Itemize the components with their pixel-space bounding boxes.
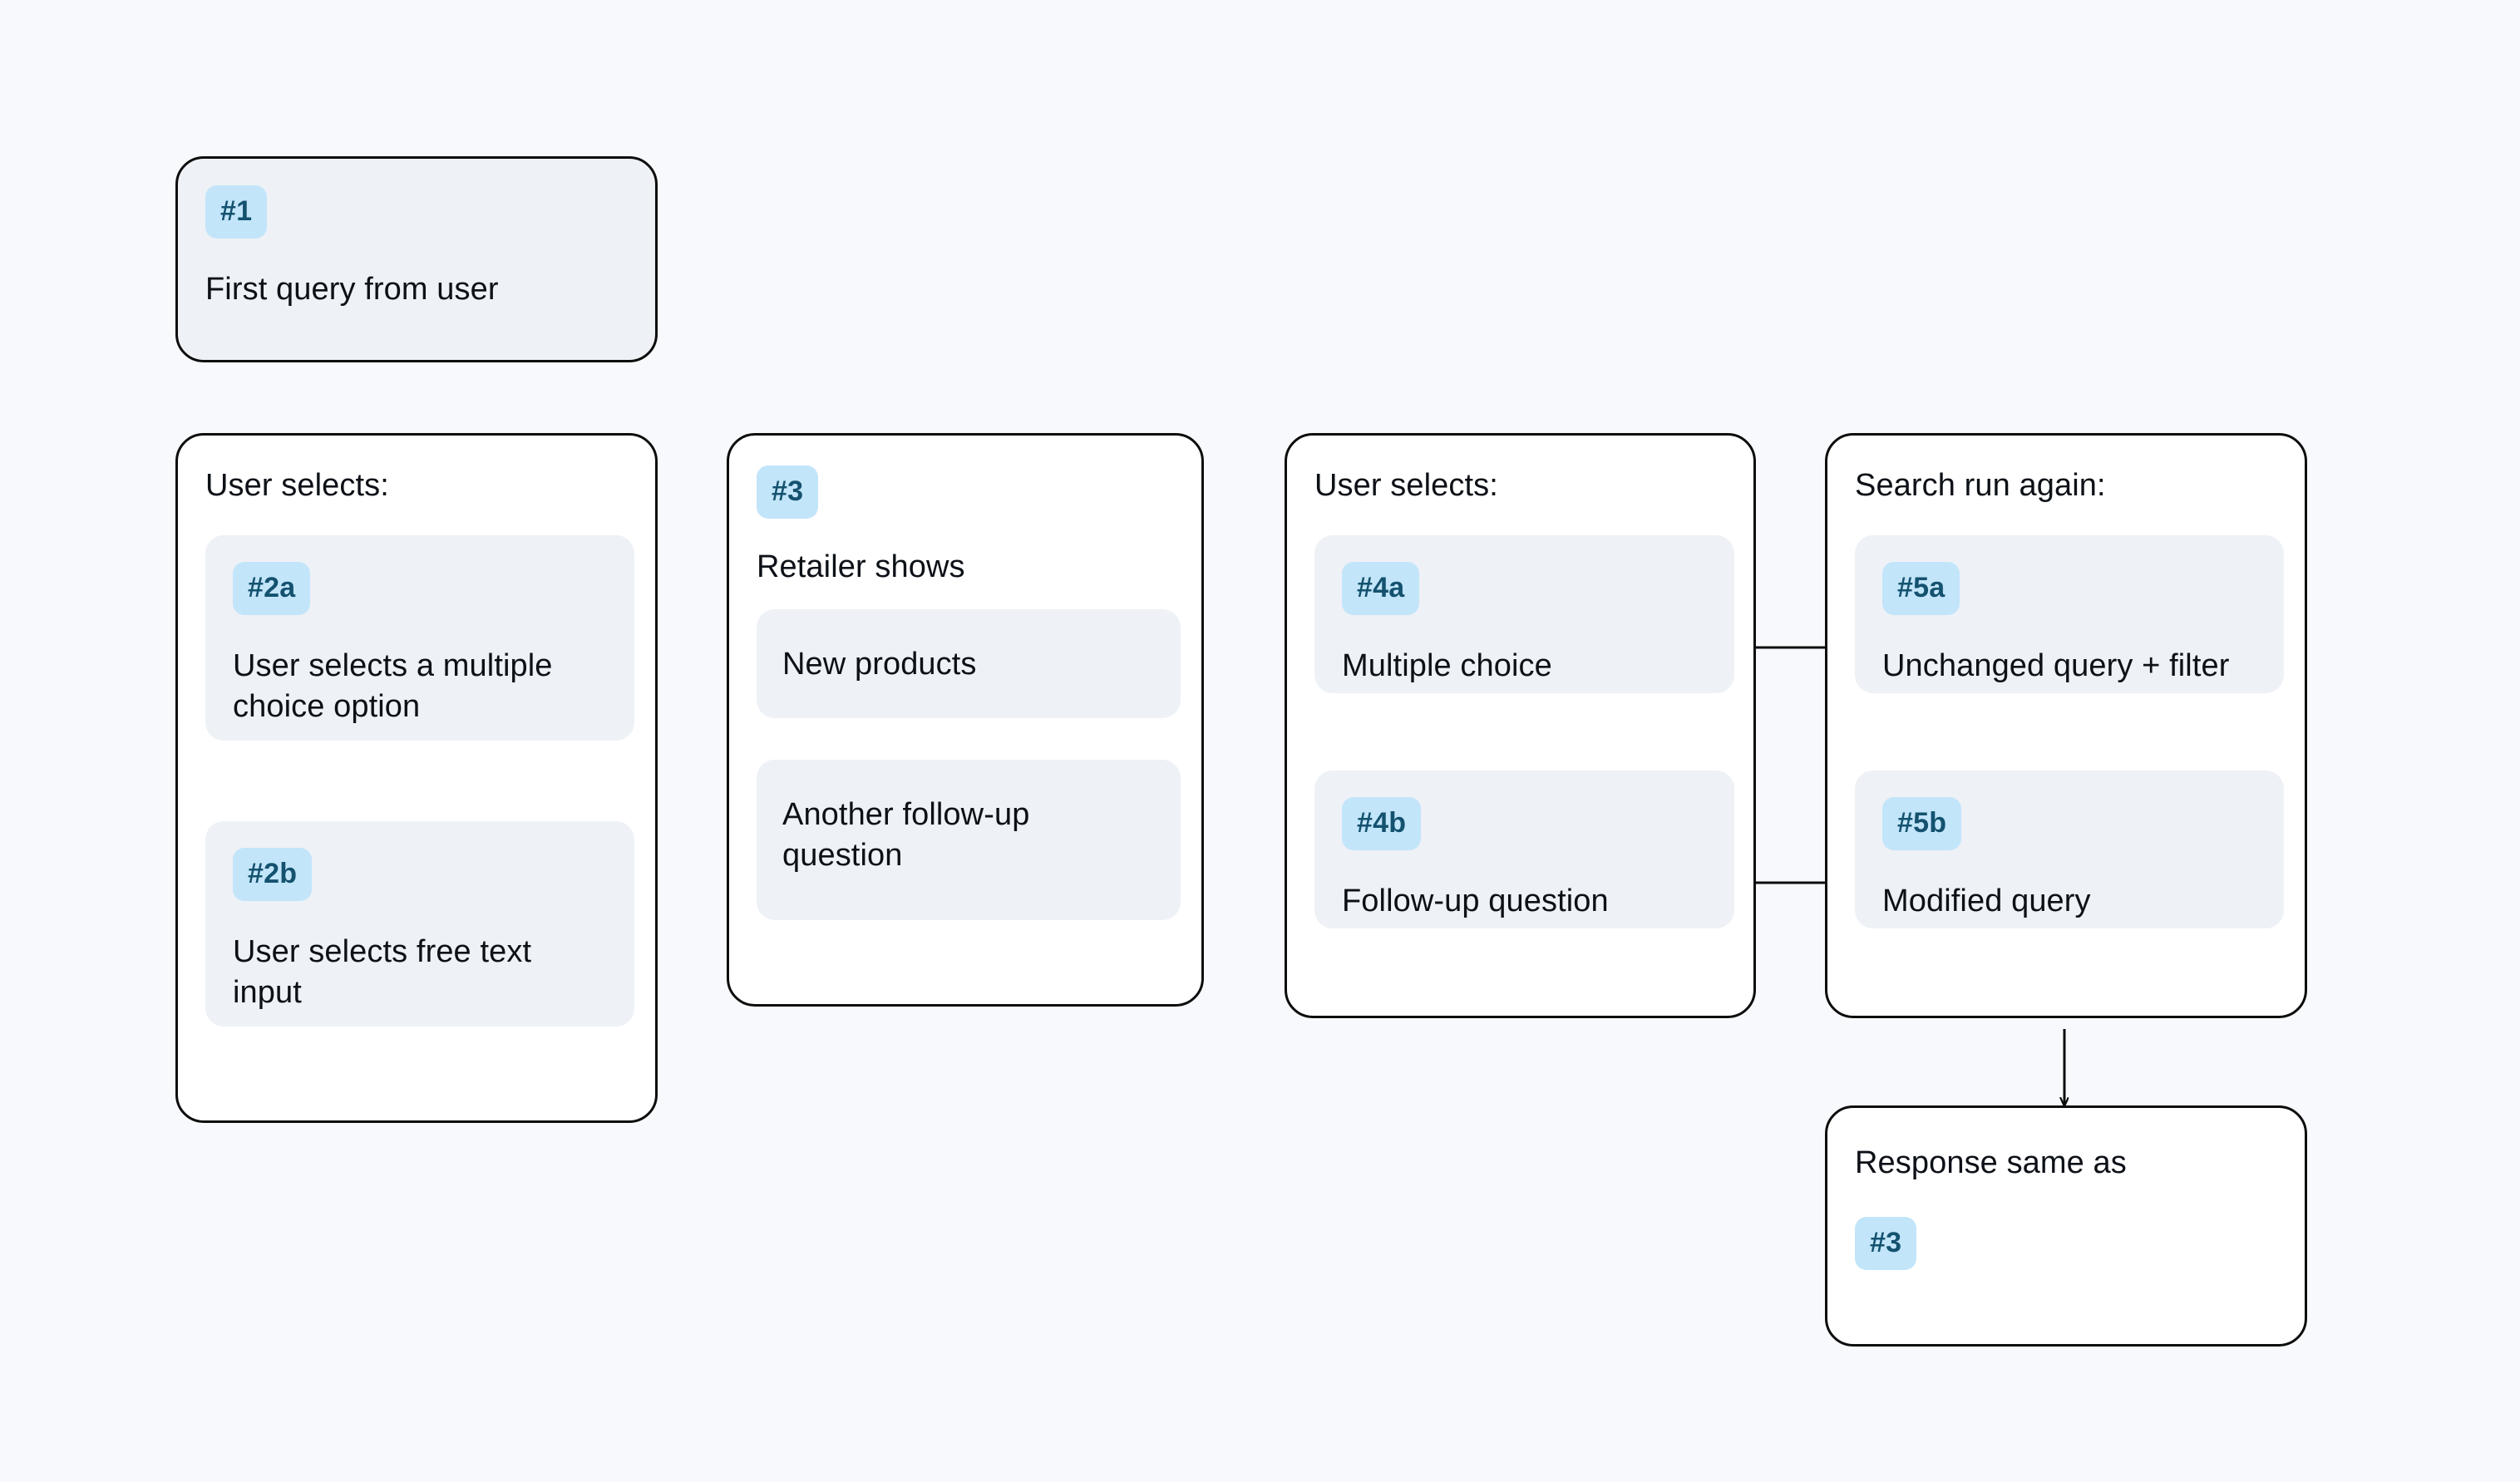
step-2-item-2a-text: User selects a multiple choice option bbox=[233, 646, 582, 728]
step-2-item-2b[interactable]: #2b User selects free text input bbox=[205, 821, 634, 1027]
badge-response-3: #3 bbox=[1855, 1217, 1916, 1270]
card-step-3[interactable]: #3 Retailer shows New products Another f… bbox=[727, 433, 1204, 1007]
step-4-title: User selects: bbox=[1314, 465, 1730, 506]
step-2-item-2b-text: User selects free text input bbox=[233, 932, 565, 1014]
step-3-item-new-products-text: New products bbox=[782, 644, 1148, 685]
step-3-item-follow-up[interactable]: Another follow-up question bbox=[757, 760, 1181, 920]
badge-5b: #5b bbox=[1882, 797, 1961, 850]
step-3-item-new-products[interactable]: New products bbox=[757, 609, 1181, 718]
badge-2a: #2a bbox=[233, 562, 310, 615]
step-5-item-5b-text: Modified query bbox=[1882, 881, 2273, 922]
step-5-item-5b[interactable]: #5b Modified query bbox=[1855, 771, 2284, 928]
step-5-item-5a-text: Unchanged query + filter bbox=[1882, 646, 2273, 687]
step-1-text: First query from user bbox=[205, 269, 638, 310]
step-2-title: User selects: bbox=[205, 465, 638, 506]
step-4-item-4a-text: Multiple choice bbox=[1342, 646, 1699, 687]
step-5-title: Search run again: bbox=[1855, 465, 2287, 506]
card-response-same-as[interactable]: Response same as #3 bbox=[1825, 1105, 2307, 1347]
badge-4b: #4b bbox=[1342, 797, 1421, 850]
card-step-1[interactable]: #1 First query from user bbox=[175, 156, 658, 362]
step-3-title: Retailer shows bbox=[757, 547, 1172, 588]
flowchart-canvas: #1 First query from user User selects: #… bbox=[0, 0, 2520, 1482]
badge-2b: #2b bbox=[233, 848, 312, 901]
step-4-item-4b[interactable]: #4b Follow-up question bbox=[1314, 771, 1734, 928]
badge-4a: #4a bbox=[1342, 562, 1419, 615]
step-4-item-4a[interactable]: #4a Multiple choice bbox=[1314, 535, 1734, 693]
card-step-4[interactable]: User selects: #4a Multiple choice #4b Fo… bbox=[1285, 433, 1756, 1018]
badge-1: #1 bbox=[205, 185, 267, 239]
badge-5a: #5a bbox=[1882, 562, 1960, 615]
step-3-item-follow-up-text: Another follow-up question bbox=[782, 795, 1115, 877]
step-5-item-5a[interactable]: #5a Unchanged query + filter bbox=[1855, 535, 2284, 693]
card-step-2[interactable]: User selects: #2a User selects a multipl… bbox=[175, 433, 658, 1123]
response-title: Response same as bbox=[1855, 1143, 2271, 1184]
step-2-item-2a[interactable]: #2a User selects a multiple choice optio… bbox=[205, 535, 634, 741]
card-step-5[interactable]: Search run again: #5a Unchanged query + … bbox=[1825, 433, 2307, 1018]
badge-3: #3 bbox=[757, 465, 818, 519]
step-4-item-4b-text: Follow-up question bbox=[1342, 881, 1699, 922]
